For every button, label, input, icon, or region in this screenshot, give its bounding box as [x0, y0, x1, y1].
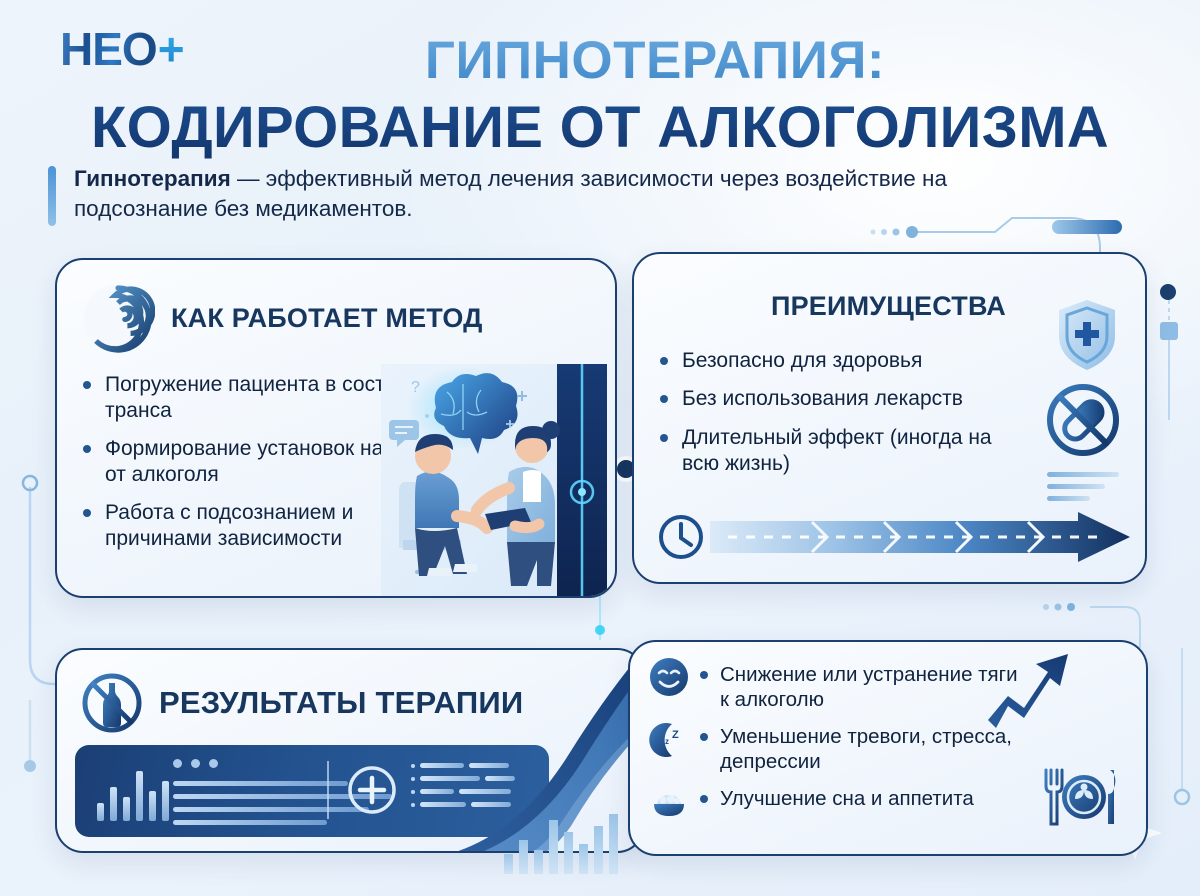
- line: [420, 763, 464, 768]
- growth-arrow-icon: [986, 648, 1070, 734]
- bar: [149, 791, 156, 821]
- line: [1047, 496, 1090, 501]
- bar-chart-decoration: [97, 767, 169, 821]
- lead-bold-term: Гипнотерапия: [74, 166, 231, 191]
- line: [173, 807, 369, 812]
- card-method-title: КАК РАБОТАЕТ МЕТОД: [171, 304, 483, 334]
- no-alcohol-bottle-icon: [81, 672, 143, 734]
- card-method-header: КАК РАБОТАЕТ МЕТОД: [57, 260, 615, 356]
- bullet-dot: [411, 790, 415, 794]
- list-item: Без использования лекарств: [660, 386, 1020, 412]
- no-pills-icon: [1045, 382, 1121, 458]
- dot: [173, 759, 182, 768]
- bar: [97, 803, 104, 821]
- bullet-dot: [411, 764, 415, 768]
- healthy-meal-bowl-icon: [648, 780, 690, 822]
- page-title-line1: ГИПНОТЕРАПИЯ:: [0, 30, 1200, 91]
- line: [420, 789, 454, 794]
- line: [1047, 484, 1105, 489]
- list-item: Безопасно для здоровья: [660, 348, 1020, 374]
- list-item: Длительный эффект (иногда на всю жизнь): [660, 425, 1020, 476]
- benefits-bullet-list: Безопасно для здоровья Без использования…: [660, 348, 1020, 476]
- card-benefits-title: ПРЕИМУЩЕСТВА: [771, 292, 1006, 322]
- bar: [136, 771, 143, 821]
- therapist-patient-brain-illustration: ?: [381, 364, 607, 596]
- list-item: Снижение или устранение тяги к алкоголю: [648, 660, 1030, 712]
- line: [173, 820, 327, 825]
- outcome-text: Улучшение сна и аппетита: [700, 784, 1030, 812]
- svg-text:z: z: [665, 737, 669, 746]
- bar: [162, 781, 169, 821]
- line: [1047, 472, 1119, 477]
- shield-plus-icon: [1055, 298, 1119, 372]
- divider: [327, 761, 329, 819]
- list-item: Z z Уменьшение тревоги, стресса, депресс…: [648, 722, 1030, 774]
- bar: [123, 797, 130, 821]
- line: [173, 781, 348, 786]
- healthy-food-plate-icon: [1038, 766, 1124, 828]
- calm-face-icon: [648, 656, 690, 698]
- outcome-text: Снижение или устранение тяги к алкоголю: [700, 660, 1030, 712]
- page-title-line2: КОДИРОВАНИЕ ОТ АЛКОГОЛИЗМА: [0, 94, 1200, 161]
- sleeping-moon-icon: Z z: [648, 718, 690, 760]
- mini-bar-chart-decoration: [500, 804, 630, 876]
- bullet-dot: [411, 777, 415, 781]
- dots-decoration: [173, 759, 218, 768]
- list-item: Улучшение сна и аппетита: [648, 784, 1030, 822]
- card-benefits: ПРЕИМУЩЕСТВА Безопасно для здоровья Без …: [632, 252, 1147, 584]
- card-outcomes: Снижение или устранение тяги к алкоголю …: [628, 640, 1148, 856]
- text-lines-decoration: [173, 781, 348, 833]
- svg-text:?: ?: [411, 379, 420, 396]
- progress-arrow-timeline: [654, 510, 1132, 564]
- decorative-text-lines: [1047, 472, 1119, 508]
- infographic-root: HEO+ ГИПНОТЕРАПИЯ: КОДИРОВАНИЕ ОТ АЛКОГО…: [0, 0, 1200, 896]
- outcomes-list: Снижение или устранение тяги к алкоголю …: [630, 642, 1030, 822]
- bar: [110, 787, 117, 821]
- lead-paragraph: Гипнотерапия — эффективный метод лечения…: [48, 164, 1068, 224]
- dot: [191, 759, 200, 768]
- svg-text:Z: Z: [672, 729, 679, 741]
- add-plus-circle-icon: [347, 765, 397, 815]
- bullet-dot: [411, 803, 415, 807]
- spiral-hypnosis-icon: [81, 282, 155, 356]
- card-how-method-works: КАК РАБОТАЕТ МЕТОД Погружение пациента в…: [55, 258, 617, 598]
- dot: [209, 759, 218, 768]
- outcome-text: Уменьшение тревоги, стресса, депрессии: [700, 722, 1030, 774]
